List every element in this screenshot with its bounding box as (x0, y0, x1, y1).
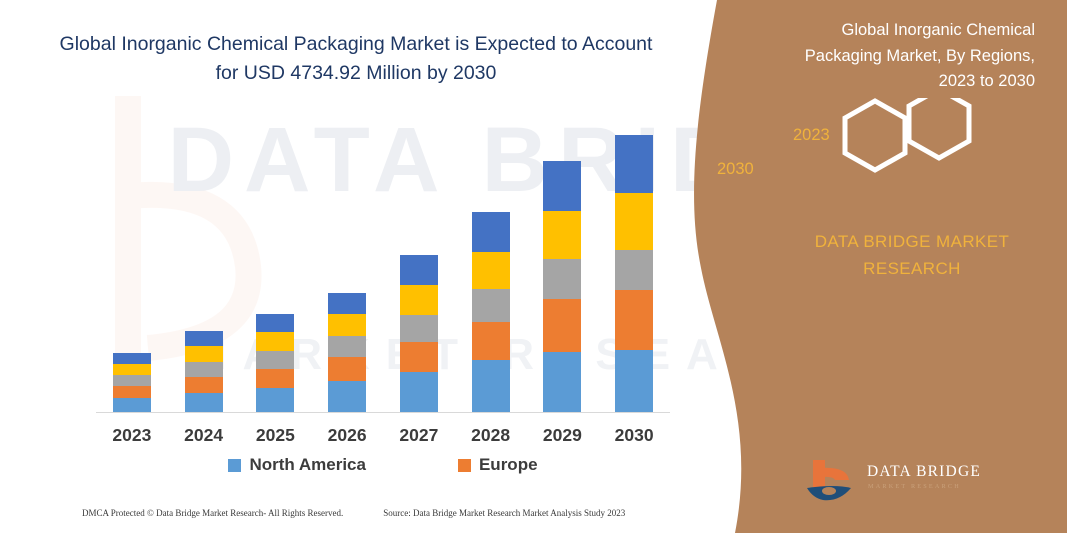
bar-segment (328, 381, 366, 412)
bar-segment (615, 290, 653, 350)
hexagon-2023-label: 2023 (793, 126, 830, 145)
bar-segment (256, 369, 294, 388)
bar-segment (328, 314, 366, 336)
bar-segment (113, 398, 151, 412)
logo-mark-icon (805, 458, 861, 504)
x-axis-tick: 2025 (240, 425, 312, 446)
bar-segment (543, 211, 581, 259)
bar-segment (615, 193, 653, 250)
bar-segment (543, 352, 581, 412)
chart-bars (96, 120, 670, 412)
logo-tagline: MARKET RESEARCH (868, 483, 961, 490)
bar-segment (400, 342, 438, 372)
bar-segment (328, 357, 366, 381)
hexagon-2023-icon (909, 98, 969, 158)
brand-name-line-2: RESEARCH (787, 255, 1037, 282)
bar-segment (543, 161, 581, 211)
infographic-root: DATA BRIDGE MARKET RESEARCH Global Inorg… (0, 0, 1067, 533)
stacked-bar (543, 161, 581, 412)
chart-pane: Global Inorganic Chemical Packaging Mark… (0, 0, 712, 533)
bar-group (168, 120, 240, 412)
stacked-bar (113, 353, 151, 412)
bar-segment (472, 289, 510, 322)
legend-item[interactable]: Europe (458, 455, 538, 475)
brand-name-line-1: DATA BRIDGE MARKET (787, 228, 1037, 255)
bar-segment (472, 322, 510, 360)
bar-segment (113, 364, 151, 375)
footer-copyright: DMCA Protected © Data Bridge Market Rese… (82, 508, 343, 518)
bar-segment (615, 135, 653, 193)
x-axis-tick: 2029 (527, 425, 599, 446)
bar-segment (113, 386, 151, 398)
x-axis-tick: 2028 (455, 425, 527, 446)
bar-segment (328, 293, 366, 314)
x-axis-tick: 2030 (598, 425, 670, 446)
hexagon-2030-icon (845, 101, 905, 170)
bar-segment (256, 314, 294, 332)
legend-label: Europe (479, 455, 538, 475)
bar-segment (256, 351, 294, 369)
bar-group (527, 120, 599, 412)
x-axis-tick: 2026 (311, 425, 383, 446)
x-axis-tick: 2024 (168, 425, 240, 446)
footer: DMCA Protected © Data Bridge Market Rese… (82, 508, 682, 518)
bar-group (311, 120, 383, 412)
stacked-bar (185, 331, 223, 412)
bar-segment (256, 332, 294, 351)
bar-segment (256, 388, 294, 412)
bar-segment (185, 346, 223, 362)
legend-label: North America (249, 455, 366, 475)
brand-name: DATA BRIDGE MARKET RESEARCH (787, 228, 1037, 282)
bar-segment (615, 350, 653, 412)
logo-wordmark: DATA BRIDGE (867, 463, 981, 481)
bar-segment (472, 252, 510, 289)
company-logo: DATA BRIDGE MARKET RESEARCH (805, 458, 1005, 506)
bar-segment (400, 285, 438, 315)
bar-group (240, 120, 312, 412)
bar-segment (185, 393, 223, 412)
legend-swatch-icon (458, 459, 471, 472)
bar-segment (328, 336, 366, 357)
footer-source: Source: Data Bridge Market Research Mark… (383, 508, 625, 518)
stacked-bar (615, 135, 653, 412)
hexagon-badges (817, 98, 1017, 208)
bar-group (598, 120, 670, 412)
hexagon-2030-label: 2030 (717, 160, 754, 179)
brand-panel-title: Global Inorganic Chemical Packaging Mark… (785, 18, 1035, 95)
bar-segment (185, 377, 223, 393)
bar-segment (400, 372, 438, 412)
stacked-bar (472, 212, 510, 412)
bar-segment (185, 331, 223, 346)
stacked-bar (400, 255, 438, 412)
bar-segment (400, 315, 438, 342)
x-axis-labels: 20232024202520262027202820292030 (96, 425, 670, 446)
legend-swatch-icon (228, 459, 241, 472)
legend-item[interactable]: North America (228, 455, 366, 475)
bar-segment (472, 212, 510, 252)
bar-segment (400, 255, 438, 285)
bar-segment (185, 362, 223, 377)
bar-segment (113, 353, 151, 364)
bar-segment (615, 250, 653, 290)
bar-group (383, 120, 455, 412)
bar-group (96, 120, 168, 412)
stacked-bar (256, 314, 294, 412)
brand-panel: Global Inorganic Chemical Packaging Mark… (687, 0, 1067, 533)
stacked-bar (328, 293, 366, 412)
chart-plot-area (96, 120, 670, 413)
chart-legend: North AmericaEurope (96, 455, 670, 475)
bar-segment (543, 259, 581, 299)
bar-group (455, 120, 527, 412)
x-axis-line (96, 412, 670, 413)
x-axis-tick: 2023 (96, 425, 168, 446)
page-title: Global Inorganic Chemical Packaging Mark… (56, 30, 656, 89)
bar-segment (543, 299, 581, 352)
bar-segment (472, 360, 510, 412)
bar-segment (113, 375, 151, 386)
x-axis-tick: 2027 (383, 425, 455, 446)
